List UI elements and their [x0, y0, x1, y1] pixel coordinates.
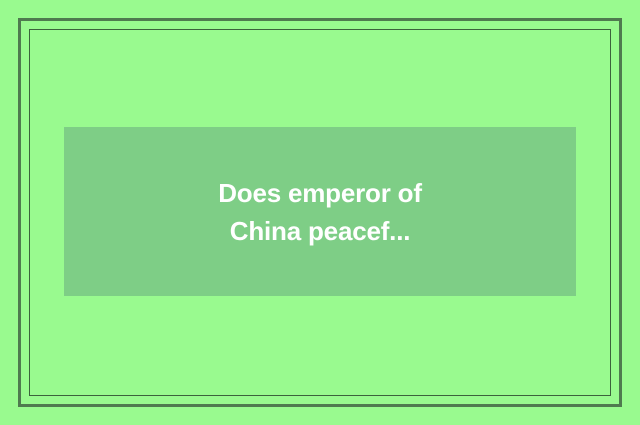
question-text: Does emperor of China peacef... [64, 174, 576, 250]
question-panel: Does emperor of China peacef... [64, 127, 576, 296]
question-text-line-2: China peacef... [88, 212, 552, 250]
question-text-line-1: Does emperor of [88, 174, 552, 212]
question-card-canvas: Does emperor of China peacef... [0, 0, 640, 425]
